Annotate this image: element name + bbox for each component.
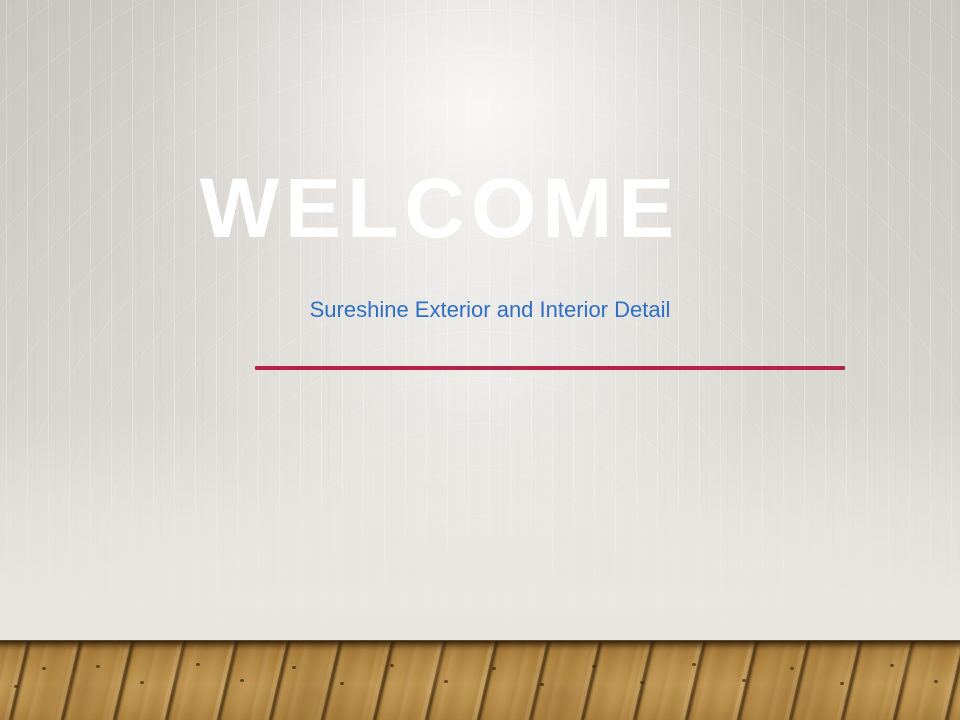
floor-nail-heads: [0, 641, 960, 720]
floor-contact-shadow: [0, 641, 960, 651]
slide-subtitle: Sureshine Exterior and Interior Detail: [0, 297, 960, 323]
wooden-floor: [0, 641, 960, 720]
slide-content: WELCOME Sureshine Exterior and Interior …: [0, 0, 960, 642]
slide-title: WELCOME: [0, 166, 880, 250]
title-slide: WELCOME Sureshine Exterior and Interior …: [0, 0, 960, 720]
red-divider-rule: [255, 366, 845, 370]
